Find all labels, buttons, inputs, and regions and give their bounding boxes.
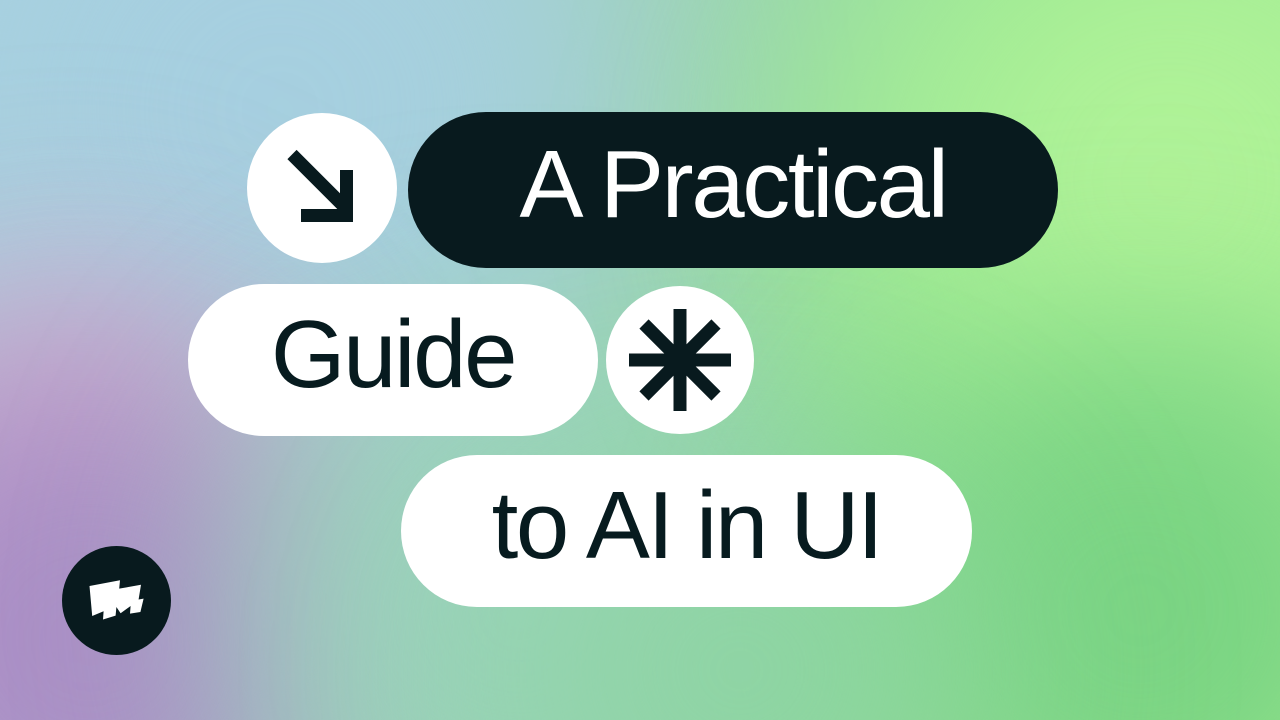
title-card-canvas: A Practical Guide to AI in UI	[0, 0, 1280, 720]
headline-line-2-pill: Guide	[188, 284, 598, 436]
arrow-down-right-icon	[247, 113, 397, 263]
headline-line-2-text: Guide	[271, 307, 515, 403]
lightning-bolt-logo-icon	[62, 546, 171, 655]
headline-line-3-pill: to AI in UI	[401, 455, 972, 607]
headline-line-3-text: to AI in UI	[492, 478, 882, 574]
headline-line-1-text: A Practical	[519, 137, 946, 233]
headline-line-1-pill: A Practical	[408, 112, 1058, 268]
asterisk-icon	[606, 286, 754, 434]
